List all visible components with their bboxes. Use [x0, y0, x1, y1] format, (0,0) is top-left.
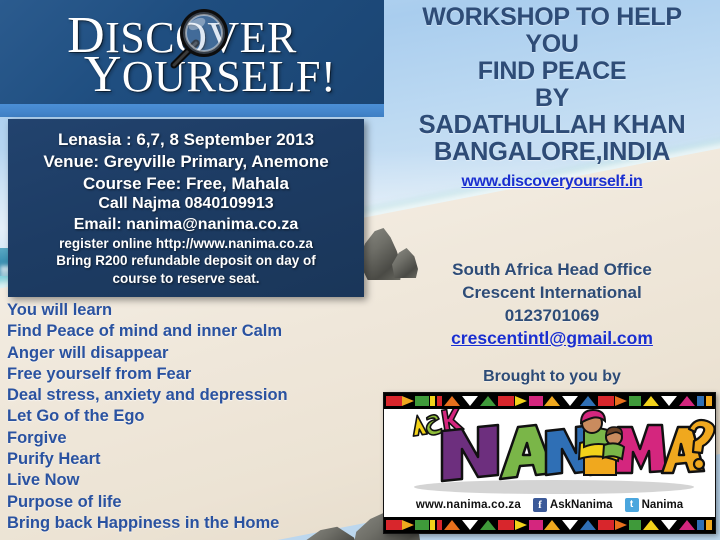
- logo-initial-y: Y: [84, 46, 122, 103]
- detail-phone: Call Najma 0840109913: [14, 194, 358, 214]
- crescent-email-link[interactable]: crescentintl@gmail.com: [384, 327, 720, 350]
- logo-accent-strip: [0, 104, 384, 117]
- ask-nanima-footer-links: www.nanima.co.za f AskNanima t Nanima: [384, 495, 715, 515]
- ndebele-pattern-svg-top: [384, 393, 715, 409]
- list-item: Live Now: [7, 470, 387, 491]
- brought-to-you-by-label: Brought to you by: [384, 368, 720, 386]
- twitter-handle-label: Nanima: [642, 499, 684, 511]
- head-office-block: South Africa Head Office Crescent Intern…: [384, 258, 720, 350]
- headline-speaker-name: SADATHULLAH KHAN: [384, 112, 720, 139]
- twitter-icon: t: [625, 498, 639, 512]
- detail-deposit-2: course to reserve seat.: [14, 270, 358, 287]
- ndebele-pattern-svg-bottom: [384, 517, 715, 533]
- headline-line-2: YOU: [384, 31, 720, 58]
- course-details-box: Lenasia : 6,7, 8 September 2013 Venue: G…: [8, 119, 364, 297]
- list-item: Anger will disappear: [7, 343, 387, 364]
- headline-line-1: WORKSHOP TO HELP: [384, 4, 720, 31]
- workshop-headline: WORKSHOP TO HELP YOU FIND PEACE BY SADAT…: [384, 4, 720, 195]
- list-item: Forgive: [7, 428, 387, 449]
- ndebele-pattern-top: [384, 393, 715, 409]
- twitter-link[interactable]: t Nanima: [625, 498, 684, 512]
- facebook-link[interactable]: f AskNanima: [533, 498, 613, 512]
- ndebele-pattern-bottom: [384, 517, 715, 533]
- logo-line-yourself: YOURSELF!: [18, 45, 384, 104]
- facebook-icon: f: [533, 498, 547, 512]
- list-item: You will learn: [7, 300, 387, 321]
- benefits-list-items: You will learn Find Peace of mind and in…: [7, 300, 387, 534]
- ask-nanima-logo-card[interactable]: www.nanima.co.za f AskNanima t Nanima: [383, 392, 716, 534]
- detail-dates: Lenasia : 6,7, 8 September 2013: [14, 129, 358, 151]
- list-item: Free yourself from Fear: [7, 364, 387, 385]
- detail-register: register online http://www.nanima.co.za: [14, 235, 358, 252]
- headline-line-4: BY: [384, 85, 720, 112]
- facebook-handle-label: AskNanima: [550, 499, 613, 511]
- headline-line-3: FIND PEACE: [384, 58, 720, 85]
- office-organisation: Crescent International: [384, 281, 720, 304]
- office-phone: 0123701069: [384, 304, 720, 327]
- benefits-list: You will learn Find Peace of mind and in…: [7, 300, 387, 534]
- discover-yourself-logo-banner: DISCOVER YOURSELF!: [0, 0, 384, 104]
- list-item: Deal stress, anxiety and depression: [7, 385, 387, 406]
- nanima-website-label[interactable]: www.nanima.co.za: [416, 499, 521, 511]
- detail-venue: Venue: Greyville Primary, Anemone: [14, 151, 358, 173]
- detail-deposit-1: Bring R200 refundable deposit on day of: [14, 252, 358, 269]
- list-item: Purify Heart: [7, 449, 387, 470]
- poster-canvas: DISCOVER YOURSELF! Lenasia : 6,7, 8 Sept…: [0, 0, 720, 540]
- ask-nanima-wordmark: [384, 409, 715, 497]
- discoveryourself-website-link[interactable]: www.discoveryourself.in: [384, 168, 720, 195]
- list-item: Purpose of life: [7, 492, 387, 513]
- list-item: Let Go of the Ego: [7, 406, 387, 427]
- list-item: Bring back Happiness in the Home: [7, 513, 387, 534]
- logo-text-ourself: OURSELF!: [122, 52, 336, 101]
- list-item: Find Peace of mind and inner Calm: [7, 321, 387, 342]
- ask-nanima-wordmark-svg: [384, 409, 715, 497]
- headline-speaker-city: BANGALORE,INDIA: [384, 139, 720, 166]
- office-title: South Africa Head Office: [384, 258, 720, 281]
- detail-email: Email: nanima@nanima.co.za: [14, 215, 358, 235]
- detail-fee: Course Fee: Free, Mahala: [14, 173, 358, 195]
